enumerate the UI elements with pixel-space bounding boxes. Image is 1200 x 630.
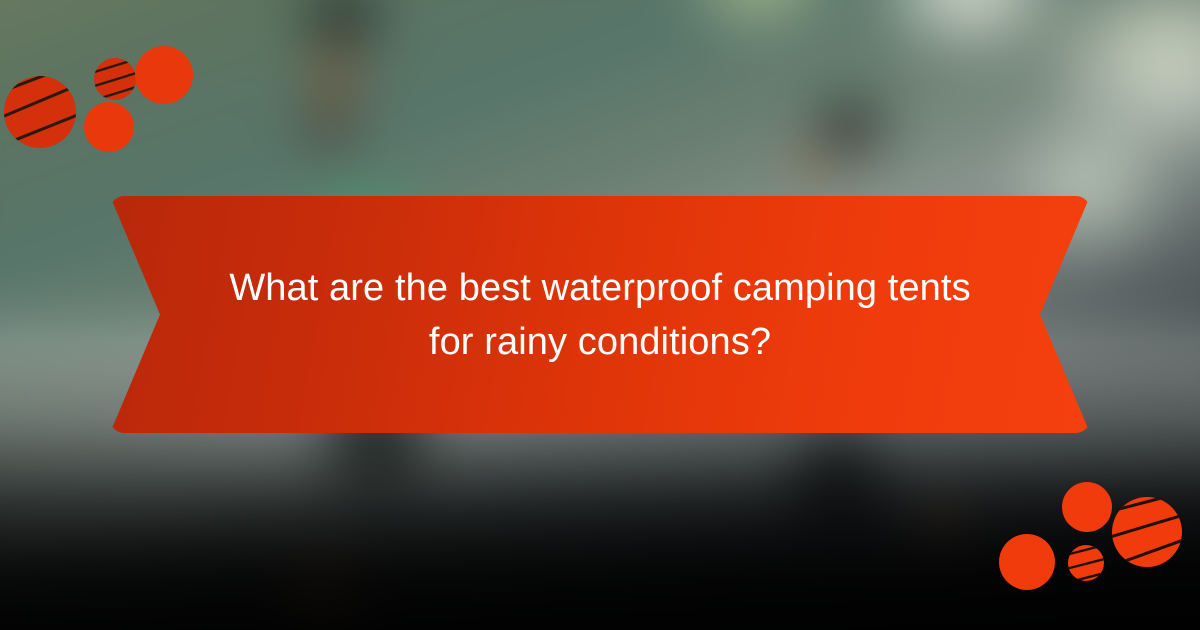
decoration-circles-bottom-right-svg — [990, 470, 1200, 630]
circle-plain-medium — [1062, 482, 1112, 532]
decoration-circles-top-left-svg — [0, 18, 220, 178]
question-text: What are the best waterproof camping ten… — [205, 261, 995, 369]
circle-plain-large — [135, 46, 193, 104]
decoration-cluster-top-left — [0, 18, 220, 183]
decoration-cluster-bottom-right — [990, 470, 1200, 630]
circle-plain-large — [999, 534, 1055, 590]
question-banner: What are the best waterproof camping ten… — [110, 196, 1090, 433]
social-card: What are the best waterproof camping ten… — [0, 0, 1200, 630]
circle-plain-medium — [84, 102, 134, 152]
